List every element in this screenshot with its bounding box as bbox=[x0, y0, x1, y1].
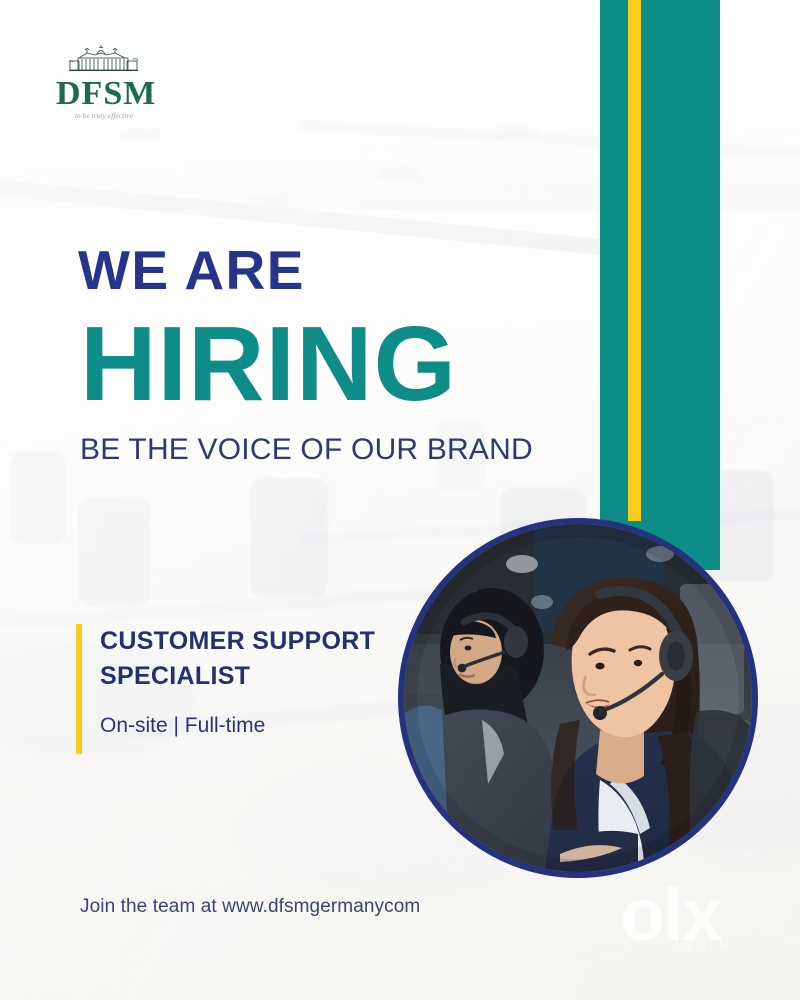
headline-line-2: HIRING bbox=[80, 311, 598, 417]
yellow-stripe bbox=[628, 0, 641, 521]
teal-stripe bbox=[600, 0, 720, 570]
headline-block: WE ARE HIRING BE THE VOICE OF OUR BRAND bbox=[78, 243, 598, 465]
role-block: CUSTOMER SUPPORT SPECIALIST On-site | Fu… bbox=[76, 624, 400, 736]
headline-line-1: WE ARE bbox=[78, 243, 598, 298]
brand-logo[interactable]: DFSM to be truly effective bbox=[56, 42, 152, 120]
role-meta: On-site | Full-time bbox=[100, 715, 400, 736]
role-accent-bar bbox=[76, 624, 82, 754]
footer-cta[interactable]: Join the team at www.dfsmgermanycom bbox=[80, 896, 420, 918]
headline-subtitle: BE THE VOICE OF OUR BRAND bbox=[80, 435, 598, 465]
building-illustration-icon bbox=[67, 42, 141, 76]
team-photo-inner bbox=[404, 524, 752, 872]
team-photo bbox=[398, 518, 758, 878]
logo-wordmark: DFSM bbox=[56, 77, 152, 111]
role-title: CUSTOMER SUPPORT SPECIALIST bbox=[100, 624, 400, 693]
call-center-agents-illustration bbox=[404, 524, 752, 872]
logo-tagline: to be truly effective bbox=[56, 113, 152, 120]
hiring-poster: DFSM to be truly effective WE ARE HIRING… bbox=[0, 0, 800, 1000]
